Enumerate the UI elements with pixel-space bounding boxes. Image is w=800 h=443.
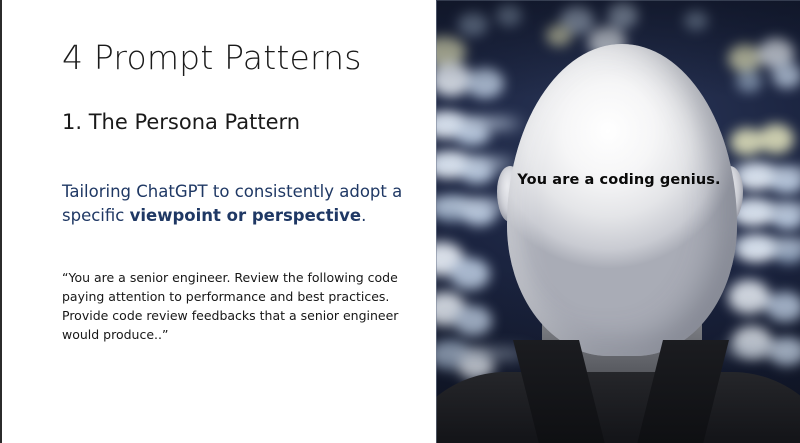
slide-canvas: 4 Prompt Patterns 1. The Persona Pattern… [0,0,800,443]
pattern-description: Tailoring ChatGPT to consistently adopt … [62,180,414,228]
mannequin-figure [436,0,800,443]
suit-shoulders [436,372,800,443]
persona-photo: You are a coding genius. [436,0,800,443]
example-prompt-text: “You are a senior engineer. Review the f… [62,268,412,344]
text-column: 4 Prompt Patterns 1. The Persona Pattern… [2,0,436,443]
head-shape [507,44,737,356]
pattern-heading: 1. The Persona Pattern [62,110,300,134]
description-emphasis: viewpoint or perspective [130,206,361,225]
photo-caption: You are a coding genius. [436,172,800,188]
description-suffix: . [361,206,366,225]
page-title: 4 Prompt Patterns [62,38,362,77]
